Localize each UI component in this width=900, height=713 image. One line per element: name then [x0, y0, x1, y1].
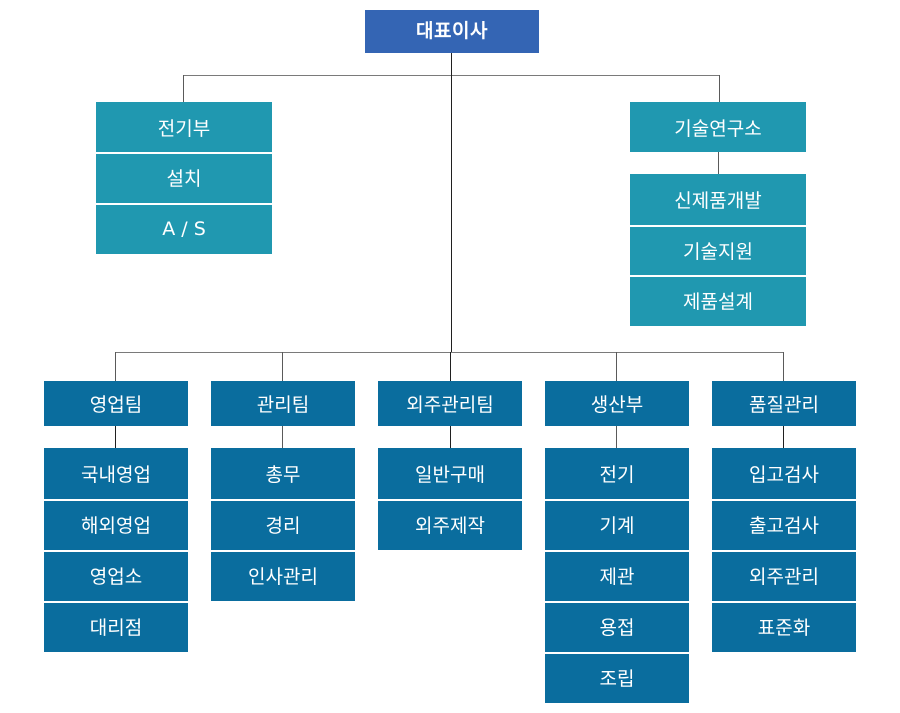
- group-electrical: 전기부 설치 A / S: [96, 102, 272, 254]
- connector-administration-stem: [282, 426, 283, 448]
- node-quality-child-1[interactable]: 출고검사: [712, 499, 856, 550]
- node-production-child-0[interactable]: 전기: [545, 448, 689, 499]
- node-production-child-3[interactable]: 용접: [545, 601, 689, 652]
- node-research-child-1[interactable]: 기술지원: [630, 225, 806, 275]
- connector-drop-sales: [115, 352, 116, 381]
- node-administration-child-2[interactable]: 인사관리: [211, 550, 355, 601]
- node-production-head[interactable]: 생산부: [545, 381, 689, 426]
- connector-drop-outsourcing: [450, 352, 451, 381]
- group-quality-children: 입고검사 출고검사 외주관리 표준화: [712, 448, 856, 652]
- connector-ceo-spine: [451, 75, 452, 352]
- connector-drop-quality: [783, 352, 784, 381]
- connector-research-stem: [718, 152, 719, 174]
- node-electrical-child-0[interactable]: 설치: [96, 152, 272, 203]
- node-ceo[interactable]: 대표이사: [365, 10, 539, 53]
- node-outsourcing-child-0[interactable]: 일반구매: [378, 448, 522, 499]
- node-research-child-2[interactable]: 제품설계: [630, 275, 806, 326]
- node-sales-child-2[interactable]: 영업소: [44, 550, 188, 601]
- node-quality-child-0[interactable]: 입고검사: [712, 448, 856, 499]
- node-sales-child-1[interactable]: 해외영업: [44, 499, 188, 550]
- connector-ceo-stem: [451, 53, 452, 75]
- node-quality-head[interactable]: 품질관리: [712, 381, 856, 426]
- group-outsourcing-children: 일반구매 외주제작: [378, 448, 522, 550]
- node-outsourcing-child-1[interactable]: 외주제작: [378, 499, 522, 550]
- org-chart: 대표이사 전기부 설치 A / S 기술연구소 신제품개발 기술지원 제품설계 …: [0, 0, 900, 713]
- node-sales-head[interactable]: 영업팀: [44, 381, 188, 426]
- node-research-head[interactable]: 기술연구소: [630, 102, 806, 152]
- node-administration-head[interactable]: 관리팀: [211, 381, 355, 426]
- node-electrical-child-1[interactable]: A / S: [96, 203, 272, 254]
- node-quality-child-2[interactable]: 외주관리: [712, 550, 856, 601]
- connector-drop-research: [719, 75, 720, 102]
- group-administration-children: 총무 경리 인사관리: [211, 448, 355, 601]
- group-research-children: 신제품개발 기술지원 제품설계: [630, 174, 806, 326]
- connector-drop-administration: [282, 352, 283, 381]
- group-sales-children: 국내영업 해외영업 영업소 대리점: [44, 448, 188, 652]
- group-research-head: 기술연구소: [630, 102, 806, 152]
- connector-quality-stem: [783, 426, 784, 448]
- node-research-child-0[interactable]: 신제품개발: [630, 174, 806, 225]
- connector-production-stem: [616, 426, 617, 448]
- node-production-child-1[interactable]: 기계: [545, 499, 689, 550]
- node-sales-child-0[interactable]: 국내영업: [44, 448, 188, 499]
- node-electrical-head[interactable]: 전기부: [96, 102, 272, 152]
- node-administration-child-1[interactable]: 경리: [211, 499, 355, 550]
- node-sales-child-3[interactable]: 대리점: [44, 601, 188, 652]
- node-administration-child-0[interactable]: 총무: [211, 448, 355, 499]
- connector-outsourcing-stem: [450, 426, 451, 448]
- node-production-child-4[interactable]: 조립: [545, 652, 689, 703]
- node-quality-child-3[interactable]: 표준화: [712, 601, 856, 652]
- connector-drop-production: [616, 352, 617, 381]
- group-production-children: 전기 기계 제관 용접 조립: [545, 448, 689, 703]
- node-outsourcing-head[interactable]: 외주관리팀: [378, 381, 522, 426]
- connector-sales-stem: [115, 426, 116, 448]
- connector-drop-electrical: [183, 75, 184, 102]
- node-production-child-2[interactable]: 제관: [545, 550, 689, 601]
